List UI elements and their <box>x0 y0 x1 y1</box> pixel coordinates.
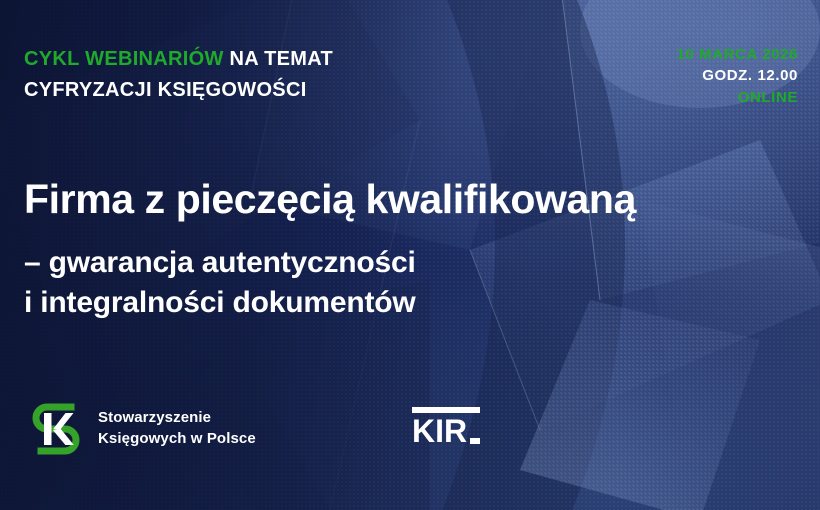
skwp-line-2: Księgowych w Polsce <box>98 428 256 449</box>
event-time: GODZ. 12.00 <box>677 65 798 86</box>
kicker-rest: NA TEMAT <box>224 48 333 70</box>
webinar-banner: CYKL WEBINARIÓW NA TEMAT CYFRYZACJI KSIĘ… <box>0 0 820 510</box>
kicker-line-2: CYFRYZACJI KSIĘGOWOŚCI <box>24 75 333 106</box>
skwp-logo-text: Stowarzyszenie Księgowych w Polsce <box>98 407 256 450</box>
event-format: ONLINE <box>677 87 798 108</box>
subtitle-line-1: – gwarancja autentyczności <box>24 243 416 283</box>
skwp-logo: Stowarzyszenie Księgowych w Polsce <box>27 398 256 458</box>
kir-wordmark: KIR <box>412 417 467 446</box>
kir-wordmark-row: KIR <box>412 417 480 446</box>
page-title: Firma z pieczęcią kwalifikowaną <box>24 178 636 221</box>
skwp-mark-icon <box>27 398 85 458</box>
page-subtitle: – gwarancja autentyczności i integralnoś… <box>24 243 416 323</box>
kir-logo: KIR <box>412 407 480 446</box>
event-date: 10 MARCA 2026 <box>677 44 798 65</box>
kicker-line-1: CYKL WEBINARIÓW NA TEMAT <box>24 44 333 75</box>
skwp-line-1: Stowarzyszenie <box>98 407 256 428</box>
event-meta: 10 MARCA 2026 GODZ. 12.00 ONLINE <box>677 44 798 108</box>
kicker-text: CYKL WEBINARIÓW NA TEMAT CYFRYZACJI KSIĘ… <box>24 44 333 106</box>
kicker-accent: CYKL WEBINARIÓW <box>24 48 224 70</box>
kir-dot-icon <box>470 438 480 444</box>
subtitle-line-2: i integralności dokumentów <box>24 283 416 323</box>
